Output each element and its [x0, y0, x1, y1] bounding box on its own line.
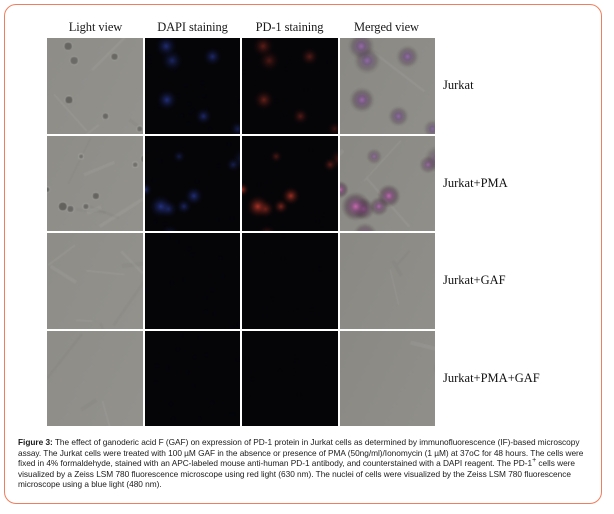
- micrograph-pd1-staining: [242, 233, 338, 329]
- micrograph-pd1-staining: [242, 136, 338, 232]
- figure-caption: Figure 3: The effect of ganoderic acid F…: [18, 437, 594, 490]
- column-header-merged-view: Merged view: [338, 17, 435, 37]
- micrograph-light-view: [47, 331, 143, 427]
- micrograph-grid: Jurkat Jurkat+PMA Jurkat+GAF Jurkat+PMA+…: [47, 38, 435, 426]
- row-label-jurkat-pma: Jurkat+PMA: [443, 136, 508, 232]
- grid-row: Jurkat: [47, 38, 435, 134]
- micrograph-pd1-staining: [242, 38, 338, 134]
- micrograph-dapi-staining: [145, 136, 241, 232]
- grid-row: Jurkat+PMA: [47, 136, 435, 232]
- micrograph-merged-view: [340, 136, 436, 232]
- micrograph-merged-view: [340, 38, 436, 134]
- micrograph-merged-view: [340, 233, 436, 329]
- micrograph-light-view: [47, 136, 143, 232]
- row-label-jurkat-pma-gaf: Jurkat+PMA+GAF: [443, 331, 540, 427]
- figure-card: Light view DAPI staining PD-1 staining M…: [4, 4, 602, 504]
- caption-figure-number: Figure 3:: [18, 437, 53, 447]
- caption-part-1: The effect of ganoderic acid F (GAF) on …: [18, 437, 583, 468]
- grid-row: Jurkat+PMA+GAF: [47, 331, 435, 427]
- micrograph-dapi-staining: [145, 331, 241, 427]
- micrograph-pd1-staining: [242, 331, 338, 427]
- column-header-pd1-staining: PD-1 staining: [241, 17, 338, 37]
- column-header-light-view: Light view: [47, 17, 144, 37]
- micrograph-dapi-staining: [145, 38, 241, 134]
- row-label-jurkat: Jurkat: [443, 38, 474, 134]
- micrograph-merged-view: [340, 331, 436, 427]
- micrograph-light-view: [47, 38, 143, 134]
- micrograph-light-view: [47, 233, 143, 329]
- column-header-row: Light view DAPI staining PD-1 staining M…: [47, 17, 435, 37]
- row-label-jurkat-gaf: Jurkat+GAF: [443, 233, 506, 329]
- column-header-dapi-staining: DAPI staining: [144, 17, 241, 37]
- grid-row: Jurkat+GAF: [47, 233, 435, 329]
- micrograph-dapi-staining: [145, 233, 241, 329]
